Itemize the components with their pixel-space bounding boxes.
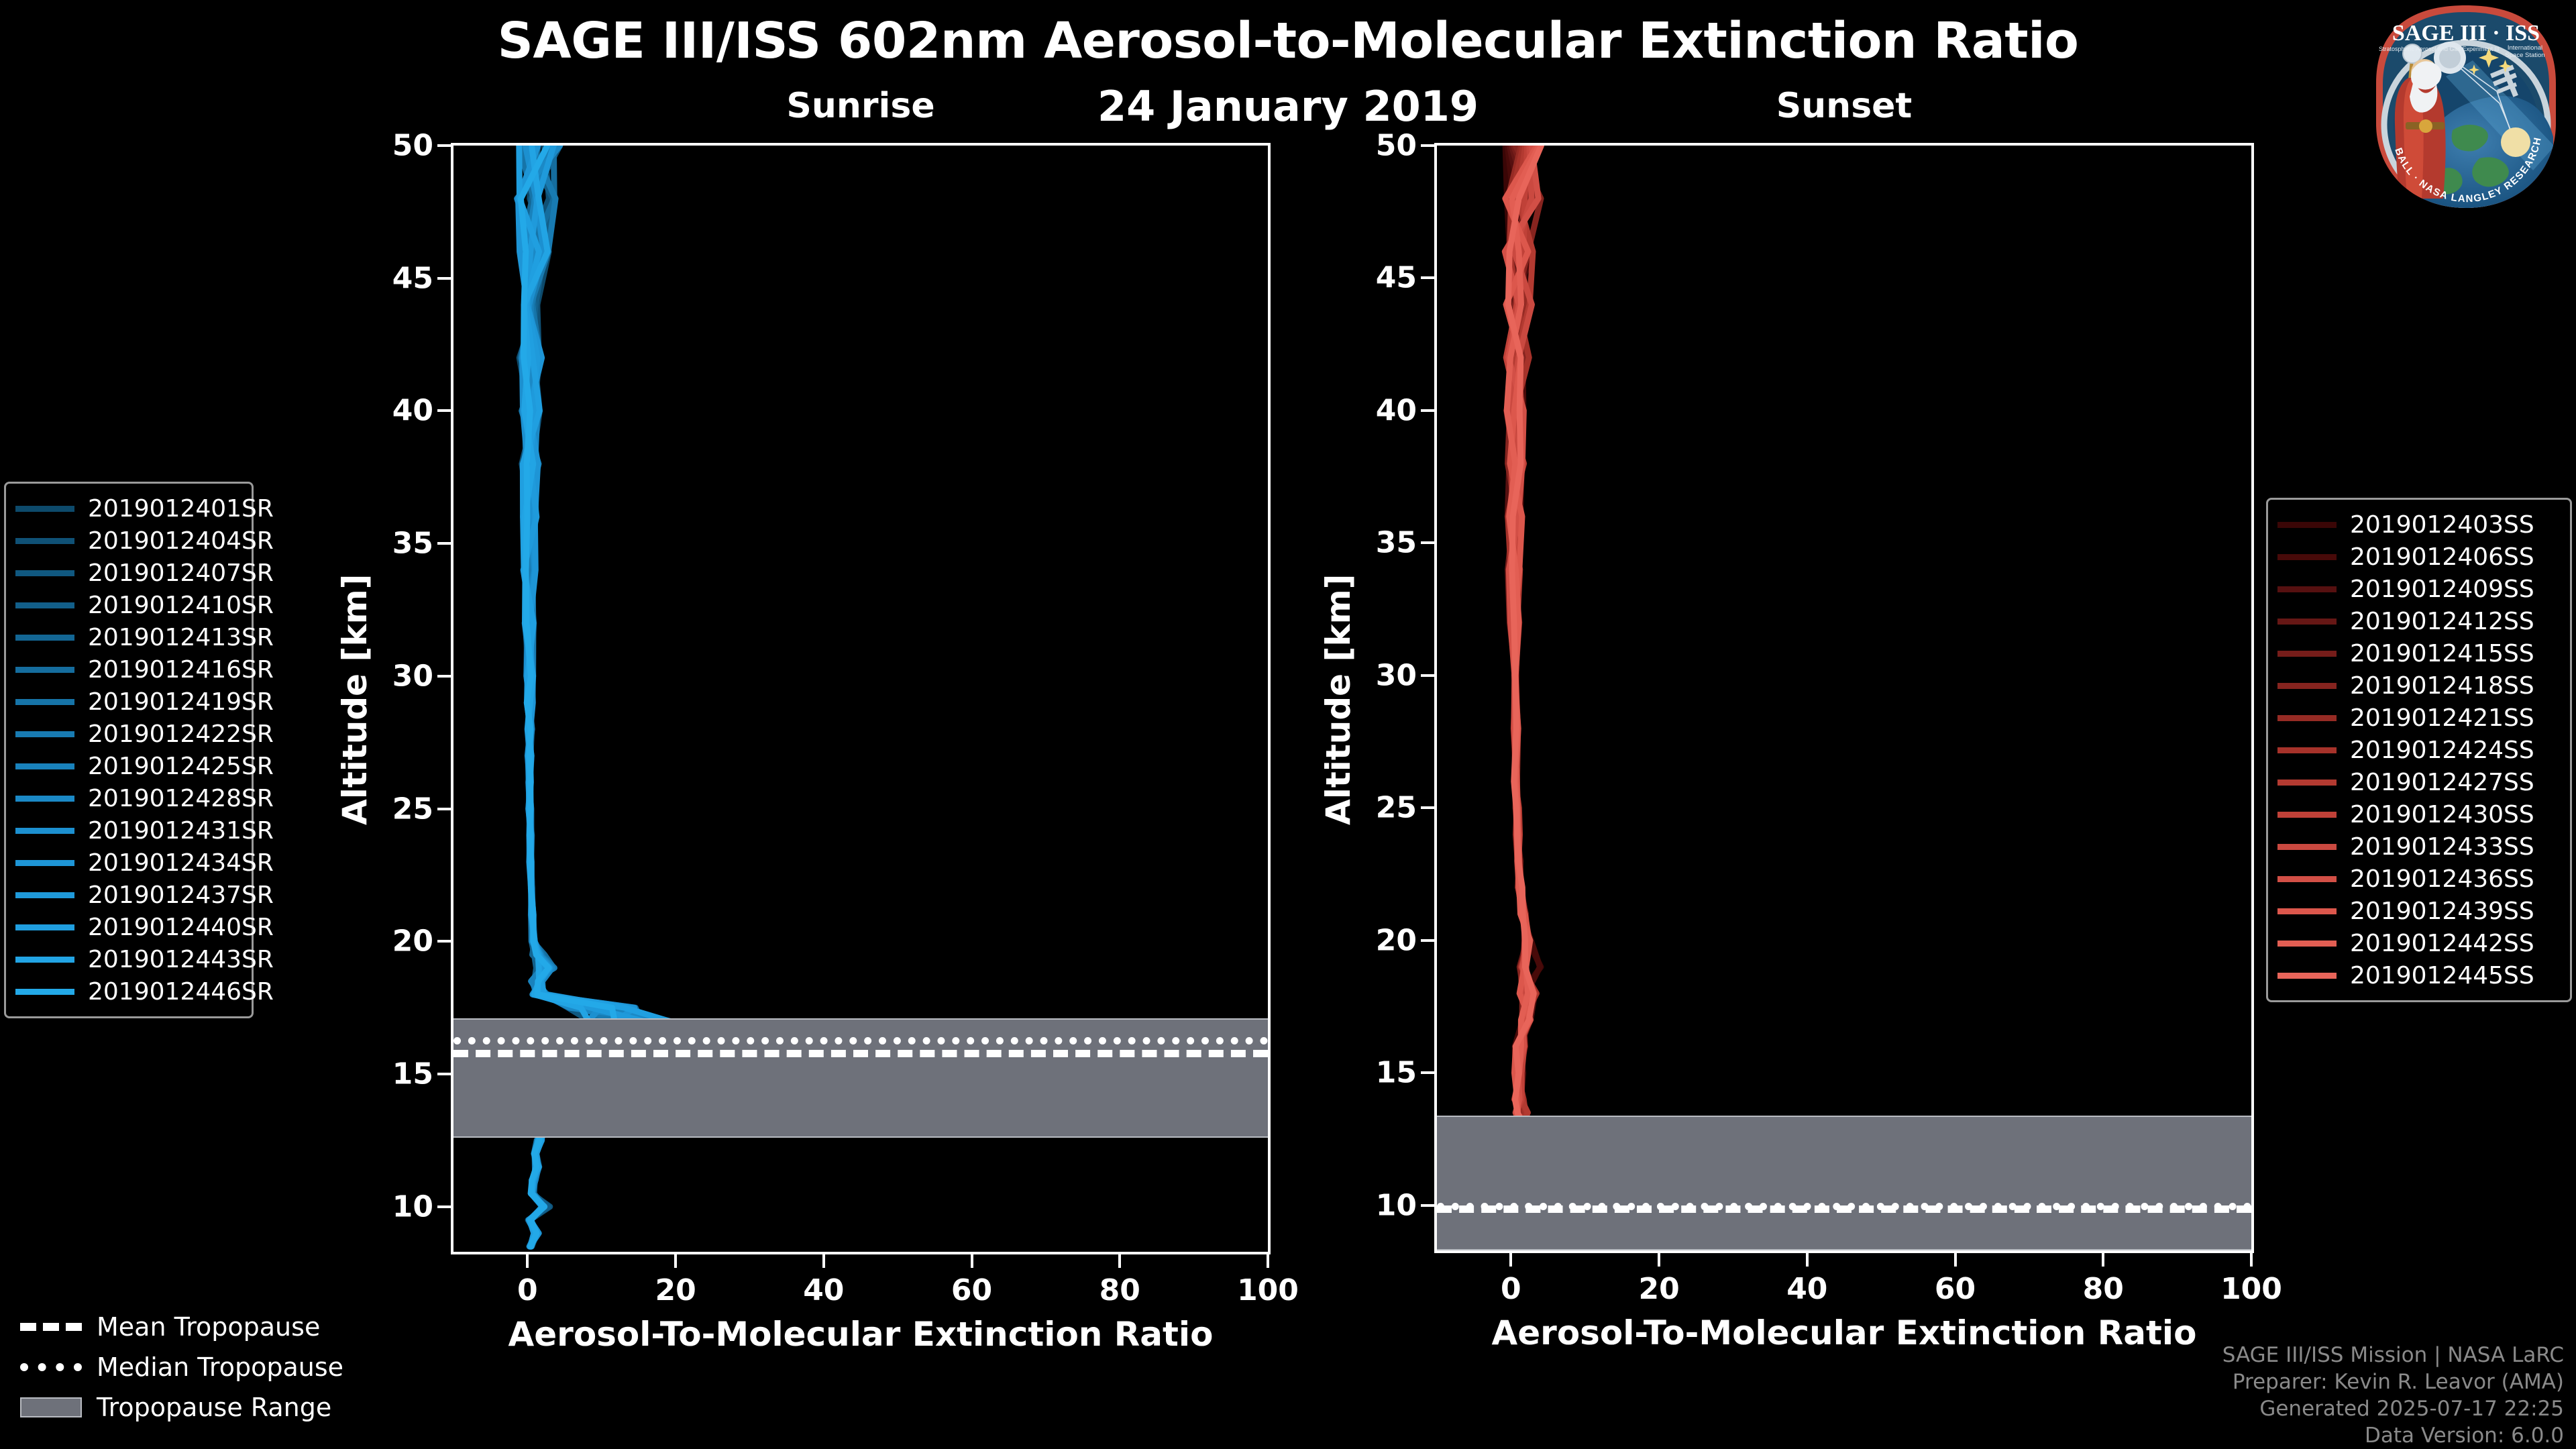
legend-item[interactable]: 2019012403SS xyxy=(2277,508,2558,541)
x-tick-mark xyxy=(1509,1253,1512,1267)
y-tick-mark xyxy=(437,409,451,412)
panel-title-sunset: Sunset xyxy=(1434,86,2254,126)
y-tick-label: 30 xyxy=(1376,658,1417,692)
legend-label: 2019012409SS xyxy=(2350,576,2534,603)
x-tick-mark xyxy=(822,1254,825,1268)
legend-label-median-tropopause: Median Tropopause xyxy=(97,1352,343,1382)
sunrise-plot-frame xyxy=(451,143,1271,1254)
x-tick-mark xyxy=(674,1254,677,1268)
legend-color-swatch xyxy=(15,731,74,737)
legend-color-swatch xyxy=(15,602,74,608)
legend-item[interactable]: 2019012436SS xyxy=(2277,863,2558,895)
x-tick-mark xyxy=(971,1254,973,1268)
legend-item[interactable]: 2019012415SS xyxy=(2277,637,2558,669)
y-tick-mark xyxy=(1421,674,1434,677)
legend-color-swatch xyxy=(2277,715,2337,721)
legend-item[interactable]: 2019012409SS xyxy=(2277,573,2558,605)
legend-color-swatch xyxy=(2277,844,2337,850)
x-tick-label: 80 xyxy=(2083,1272,2124,1306)
legend-item[interactable]: 2019012418SS xyxy=(2277,669,2558,702)
sunset-y-axis-label: Altitude [km] xyxy=(1319,574,1358,825)
svg-text:Space Station: Space Station xyxy=(2505,52,2544,59)
y-tick-mark xyxy=(1421,806,1434,809)
legend-item[interactable]: 2019012421SS xyxy=(2277,702,2558,734)
legend-label: 2019012433SS xyxy=(2350,833,2534,861)
dotted-line-icon xyxy=(20,1359,82,1375)
legend-label: 2019012442SS xyxy=(2350,930,2534,957)
x-tick-label: 100 xyxy=(1237,1273,1299,1307)
legend-label: 2019012401SR xyxy=(88,495,274,523)
y-tick-mark xyxy=(1421,409,1434,412)
x-tick-label: 0 xyxy=(517,1273,538,1307)
legend-item[interactable]: 2019012443SR xyxy=(15,943,239,975)
y-tick-label: 40 xyxy=(392,394,433,428)
legend-label: 2019012443SR xyxy=(88,946,274,973)
x-tick-label: 60 xyxy=(951,1273,992,1307)
legend-label: 2019012415SS xyxy=(2350,640,2534,667)
y-tick-mark xyxy=(437,675,451,678)
footer-line-version: Data Version: 6.0.0 xyxy=(2222,1422,2564,1449)
legend-item[interactable]: 2019012437SR xyxy=(15,879,239,911)
page-title: SAGE III/ISS 602nm Aerosol-to-Molecular … xyxy=(0,12,2576,70)
x-tick-label: 20 xyxy=(1638,1272,1679,1306)
legend-item[interactable]: 2019012434SR xyxy=(15,847,239,879)
legend-color-swatch xyxy=(15,796,74,802)
x-tick-mark xyxy=(2102,1253,2104,1267)
legend-color-swatch xyxy=(15,667,74,673)
legend-item[interactable]: 2019012413SR xyxy=(15,621,239,653)
legend-label: 2019012416SR xyxy=(88,656,274,684)
legend-item[interactable]: 2019012427SS xyxy=(2277,766,2558,798)
legend-item[interactable]: 2019012428SR xyxy=(15,782,239,814)
legend-color-swatch xyxy=(15,828,74,834)
dashed-line-icon xyxy=(20,1319,82,1335)
legend-label: 2019012422SR xyxy=(88,720,274,748)
tropopause-range-band-sunset xyxy=(1437,1116,2251,1250)
legend-color-swatch xyxy=(2277,973,2337,979)
svg-text:Stratospheric Aerosol and Gas: Stratospheric Aerosol and Gas Experiment… xyxy=(2379,46,2500,52)
y-tick-label: 10 xyxy=(392,1189,433,1224)
y-tick-label: 25 xyxy=(1376,791,1417,825)
legend-item[interactable]: 2019012416SR xyxy=(15,653,239,686)
panel-title-sunrise: Sunrise xyxy=(451,86,1271,126)
legend-item[interactable]: 2019012439SS xyxy=(2277,895,2558,927)
x-tick-mark xyxy=(1954,1253,1957,1267)
mean-tropopause-line-sunrise xyxy=(453,1050,1268,1057)
legend-item[interactable]: 2019012430SS xyxy=(2277,798,2558,830)
legend-color-swatch xyxy=(15,763,74,769)
footer-line-generated: Generated 2025-07-17 22:25 xyxy=(2222,1395,2564,1422)
legend-color-swatch xyxy=(2277,522,2337,528)
y-tick-mark xyxy=(1421,939,1434,942)
y-tick-label: 30 xyxy=(392,659,433,693)
legend-color-swatch xyxy=(2277,780,2337,786)
y-tick-label: 35 xyxy=(1376,526,1417,560)
legend-color-swatch xyxy=(15,635,74,641)
legend-label: 2019012413SR xyxy=(88,624,274,651)
tropopause-legend: Mean Tropopause Median Tropopause Tropop… xyxy=(20,1307,396,1428)
legend-label: 2019012412SS xyxy=(2350,608,2534,635)
footer-credits: SAGE III/ISS Mission | NASA LaRC Prepare… xyxy=(2222,1342,2564,1449)
median-tropopause-line-sunset xyxy=(1437,1203,2251,1210)
legend-label: 2019012403SS xyxy=(2350,511,2534,539)
legend-label: 2019012419SR xyxy=(88,688,274,716)
y-tick-mark xyxy=(1421,541,1434,544)
legend-color-swatch xyxy=(15,699,74,705)
legend-item[interactable]: 2019012425SR xyxy=(15,750,239,782)
legend-item-median-tropopause: Median Tropopause xyxy=(20,1347,396,1387)
legend-label: 2019012434SR xyxy=(88,849,274,877)
sunset-x-axis-label: Aerosol-To-Molecular Extinction Ratio xyxy=(1434,1313,2254,1352)
legend-label: 2019012428SR xyxy=(88,785,274,812)
x-tick-mark xyxy=(2250,1253,2253,1267)
y-tick-label: 45 xyxy=(392,261,433,295)
legend-item[interactable]: 2019012412SS xyxy=(2277,605,2558,637)
legend-label: 2019012437SR xyxy=(88,881,274,909)
x-tick-mark xyxy=(1658,1253,1660,1267)
legend-color-swatch xyxy=(2277,619,2337,625)
x-tick-label: 0 xyxy=(1501,1272,1521,1306)
legend-label: 2019012424SS xyxy=(2350,737,2534,764)
y-tick-mark xyxy=(1421,144,1434,147)
legend-label: 2019012440SR xyxy=(88,914,274,941)
legend-item[interactable]: 2019012446SR xyxy=(15,975,239,1008)
y-tick-mark xyxy=(437,1073,451,1075)
sunset-series-legend[interactable]: 2019012403SS2019012406SS2019012409SS2019… xyxy=(2266,498,2572,1002)
y-tick-label: 20 xyxy=(1376,923,1417,957)
y-tick-label: 35 xyxy=(392,527,433,561)
legend-label: 2019012407SR xyxy=(88,559,274,587)
svg-text:SAGE III · ISS: SAGE III · ISS xyxy=(2392,21,2540,46)
legend-color-swatch xyxy=(2277,941,2337,947)
legend-color-swatch xyxy=(15,957,74,963)
x-tick-label: 40 xyxy=(1786,1272,1827,1306)
legend-label: 2019012445SS xyxy=(2350,962,2534,989)
legend-item[interactable]: 2019012442SS xyxy=(2277,927,2558,959)
y-tick-label: 25 xyxy=(392,792,433,826)
legend-color-swatch xyxy=(2277,876,2337,882)
legend-item-mean-tropopause: Mean Tropopause xyxy=(20,1307,396,1347)
legend-item[interactable]: 2019012407SR xyxy=(15,557,239,589)
sage-iii-iss-logo: SAGE III · ISS Stratospheric Aerosol and… xyxy=(2365,3,2567,211)
tropopause-range-band-sunrise xyxy=(453,1018,1268,1138)
sunset-profiles xyxy=(1437,146,2251,1250)
median-tropopause-line-sunrise xyxy=(453,1037,1268,1044)
sunrise-series-legend[interactable]: 2019012401SR2019012404SR2019012407SR2019… xyxy=(4,482,254,1018)
y-tick-label: 45 xyxy=(1376,261,1417,295)
y-tick-mark xyxy=(1421,1071,1434,1074)
legend-label: 2019012425SR xyxy=(88,753,274,780)
x-tick-label: 60 xyxy=(1935,1272,1976,1306)
y-tick-mark xyxy=(437,1205,451,1208)
x-tick-label: 40 xyxy=(803,1273,844,1307)
legend-color-swatch xyxy=(15,538,74,544)
legend-item[interactable]: 2019012419SR xyxy=(15,686,239,718)
sunset-plot-frame xyxy=(1434,143,2254,1253)
legend-label: 2019012439SS xyxy=(2350,898,2534,925)
legend-label: 2019012446SR xyxy=(88,978,274,1006)
legend-label: 2019012404SR xyxy=(88,527,274,555)
legend-color-swatch xyxy=(2277,554,2337,560)
legend-item[interactable]: 2019012422SR xyxy=(15,718,239,750)
sunrise-y-axis-label: Altitude [km] xyxy=(335,574,374,825)
footer-line-preparer: Preparer: Kevin R. Leavor (AMA) xyxy=(2222,1368,2564,1395)
legend-label: 2019012436SS xyxy=(2350,865,2534,893)
legend-label: 2019012410SR xyxy=(88,592,274,619)
y-tick-label: 15 xyxy=(392,1057,433,1091)
legend-label: 2019012427SS xyxy=(2350,769,2534,796)
legend-item[interactable]: 2019012431SR xyxy=(15,814,239,847)
legend-item[interactable]: 2019012424SS xyxy=(2277,734,2558,766)
legend-color-swatch xyxy=(15,892,74,898)
legend-label-tropopause-range: Tropopause Range xyxy=(97,1393,331,1422)
legend-color-swatch xyxy=(15,860,74,866)
legend-color-swatch xyxy=(2277,683,2337,689)
legend-label: 2019012431SR xyxy=(88,817,274,845)
x-tick-mark xyxy=(1267,1254,1269,1268)
legend-color-swatch xyxy=(2277,747,2337,753)
legend-label-mean-tropopause: Mean Tropopause xyxy=(97,1312,320,1342)
legend-item-tropopause-range: Tropopause Range xyxy=(20,1387,396,1428)
legend-label: 2019012406SS xyxy=(2350,543,2534,571)
legend-color-swatch xyxy=(15,570,74,576)
legend-color-swatch xyxy=(2277,812,2337,818)
x-tick-label: 100 xyxy=(2220,1272,2282,1306)
legend-item[interactable]: 2019012445SS xyxy=(2277,959,2558,991)
x-tick-mark xyxy=(526,1254,529,1268)
y-tick-mark xyxy=(437,808,451,810)
y-tick-mark xyxy=(1421,1204,1434,1207)
x-tick-mark xyxy=(1118,1254,1121,1268)
x-tick-label: 20 xyxy=(655,1273,696,1307)
legend-item[interactable]: 2019012404SR xyxy=(15,525,239,557)
legend-color-swatch xyxy=(2277,908,2337,914)
y-tick-label: 40 xyxy=(1376,393,1417,427)
legend-label: 2019012430SS xyxy=(2350,801,2534,828)
y-tick-label: 15 xyxy=(1376,1056,1417,1090)
legend-item[interactable]: 2019012433SS xyxy=(2277,830,2558,863)
legend-item[interactable]: 2019012406SS xyxy=(2277,541,2558,573)
legend-color-swatch xyxy=(15,989,74,995)
legend-item[interactable]: 2019012440SR xyxy=(15,911,239,943)
y-tick-mark xyxy=(437,277,451,280)
legend-label: 2019012418SS xyxy=(2350,672,2534,700)
y-tick-label: 50 xyxy=(392,129,433,163)
y-tick-label: 50 xyxy=(1376,129,1417,163)
legend-color-swatch xyxy=(15,924,74,930)
footer-line-mission: SAGE III/ISS Mission | NASA LaRC xyxy=(2222,1342,2564,1368)
legend-color-swatch xyxy=(2277,651,2337,657)
y-tick-mark xyxy=(437,940,451,943)
x-tick-mark xyxy=(1806,1253,1809,1267)
x-tick-label: 80 xyxy=(1099,1273,1140,1307)
legend-item[interactable]: 2019012401SR xyxy=(15,492,239,525)
legend-label: 2019012421SS xyxy=(2350,704,2534,732)
y-tick-mark xyxy=(437,144,451,147)
y-tick-label: 20 xyxy=(392,924,433,959)
y-tick-mark xyxy=(437,542,451,545)
y-tick-mark xyxy=(1421,276,1434,279)
legend-item[interactable]: 2019012410SR xyxy=(15,589,239,621)
legend-color-swatch xyxy=(15,506,74,512)
filled-band-icon xyxy=(20,1399,82,1415)
y-tick-label: 10 xyxy=(1376,1188,1417,1222)
svg-text:International: International xyxy=(2508,44,2542,52)
legend-color-swatch xyxy=(2277,586,2337,592)
sunrise-x-axis-label: Aerosol-To-Molecular Extinction Ratio xyxy=(451,1315,1271,1354)
